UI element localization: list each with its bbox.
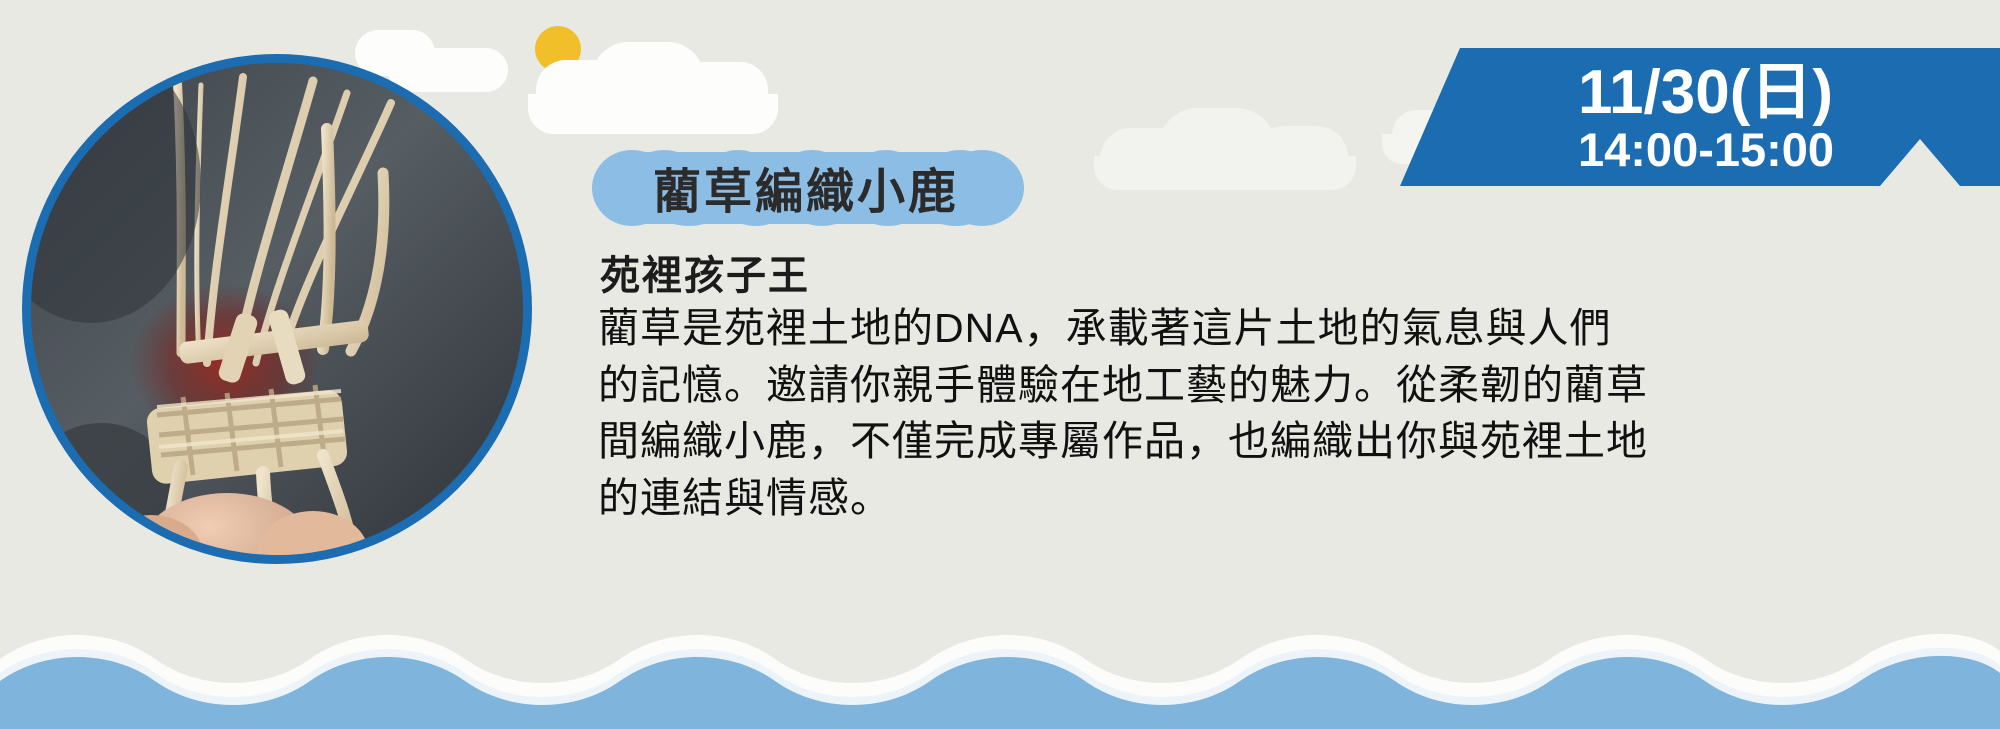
description-line: 的記憶。邀請你親手體驗在地工藝的魅力。從柔韌的藺草 bbox=[598, 357, 1988, 414]
description-line: 藺草是苑裡土地的DNA，承載著這片土地的氣息與人們 bbox=[598, 300, 1988, 357]
wave-divider bbox=[0, 629, 2000, 729]
title-pill: 藺草編織小鹿 bbox=[584, 148, 1028, 228]
cloud-icon bbox=[388, 48, 508, 92]
poster-banner: 11/30(日) 14:00-15:00 藺草編織小鹿 苑裡孩子王 藺草是苑裡土… bbox=[0, 0, 2000, 729]
cloud-icon bbox=[528, 94, 778, 134]
date-ribbon: 11/30(日) 14:00-15:00 bbox=[1400, 43, 2000, 191]
activity-photo bbox=[22, 54, 532, 564]
ribbon-text-group: 11/30(日) 14:00-15:00 bbox=[1400, 43, 2000, 191]
wave-shape bbox=[0, 629, 2000, 729]
activity-title: 藺草編織小鹿 bbox=[584, 148, 1028, 228]
event-time: 14:00-15:00 bbox=[1578, 126, 1834, 173]
photo-image bbox=[31, 63, 523, 555]
activity-description: 藺草是苑裡土地的DNA，承載著這片土地的氣息與人們 的記憶。邀請你親手體驗在地工… bbox=[598, 300, 1988, 526]
description-line: 的連結與情感。 bbox=[598, 470, 1988, 527]
weaving-illustration bbox=[31, 63, 523, 555]
description-line: 間編織小鹿，不僅完成專屬作品，也編織出你與苑裡土地 bbox=[598, 413, 1988, 470]
instructor-name: 苑裡孩子王 bbox=[600, 243, 810, 301]
event-date: 11/30(日) bbox=[1578, 62, 1833, 124]
cloud-icon bbox=[1094, 156, 1356, 190]
